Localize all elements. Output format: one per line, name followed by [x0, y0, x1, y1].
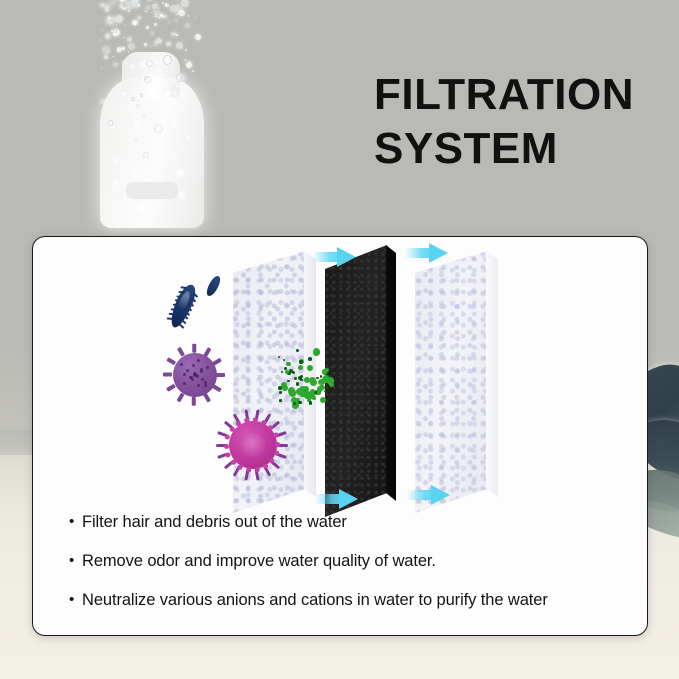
- water-droplet: [153, 10, 155, 12]
- bacteria-cilium: [179, 323, 185, 328]
- bacteria-cilium: [173, 304, 179, 306]
- feature-bullet-text: Neutralize various anions and cations in…: [82, 589, 621, 611]
- water-droplet: [113, 62, 119, 68]
- water-droplet: [123, 37, 124, 38]
- green-microbe-dot: [304, 377, 310, 383]
- bacteria-cilium: [185, 310, 191, 315]
- water-droplet: [144, 43, 147, 46]
- water-droplet: [128, 43, 135, 50]
- virus-spike: [212, 384, 222, 392]
- virus-core: [241, 433, 265, 457]
- feature-bullet-item: •Remove odor and improve water quality o…: [69, 550, 621, 572]
- virus-spike: [223, 421, 234, 431]
- water-droplet: [117, 31, 119, 33]
- water-droplet: [126, 5, 131, 10]
- water-droplet: [174, 19, 178, 23]
- page-title-line-2: SYSTEM: [374, 122, 674, 176]
- flow-arrow-icon-top-left: [313, 247, 357, 267]
- water-droplet: [155, 10, 158, 13]
- arrow-head: [339, 489, 358, 509]
- water-droplet: [128, 10, 129, 11]
- virus-spike: [218, 431, 230, 438]
- virus-spike: [233, 413, 242, 425]
- virus-pore: [194, 373, 197, 376]
- virus-spike: [223, 459, 234, 469]
- virus-spike: [192, 397, 196, 406]
- green-microbe-dot: [287, 380, 289, 382]
- bacteria-cilium: [181, 286, 187, 288]
- water-droplet: [109, 0, 116, 6]
- water-droplet: [156, 38, 162, 44]
- water-droplet: [168, 21, 170, 23]
- water-droplet: [128, 51, 130, 53]
- green-microbe-dot: [310, 379, 317, 386]
- green-microbe-dot: [304, 392, 310, 398]
- bacteria-cilium: [179, 291, 185, 293]
- water-droplet: [104, 4, 110, 10]
- virus-spike: [166, 358, 176, 366]
- feature-bullet-item: •Filter hair and debris out of the water: [69, 511, 621, 533]
- water-droplet: [106, 35, 110, 39]
- water-droplet: [106, 16, 115, 25]
- cotton-filter-back-face: [415, 251, 487, 513]
- virus-spike: [274, 431, 286, 438]
- water-bottle-with-splash: [48, 0, 238, 236]
- water-droplet: [185, 49, 187, 51]
- cotton-filter-back-layer: [415, 251, 487, 513]
- water-droplet: [166, 42, 170, 46]
- water-droplet: [184, 59, 186, 61]
- virus-spike: [177, 393, 185, 403]
- green-microbe-dot: [296, 349, 299, 352]
- virus-spike: [212, 358, 222, 366]
- water-droplet: [116, 24, 118, 26]
- arrow-head: [431, 485, 450, 505]
- virus-spike: [263, 413, 272, 425]
- water-droplet: [154, 23, 157, 26]
- virus-spike: [218, 452, 230, 459]
- virus-spike: [244, 409, 249, 421]
- virus-spike: [276, 444, 288, 447]
- water-droplet: [145, 11, 147, 13]
- bottle-body: [100, 78, 204, 228]
- bacteria-cilium: [171, 308, 177, 310]
- water-droplet: [101, 68, 102, 69]
- water-droplet: [156, 4, 158, 6]
- water-droplet: [170, 5, 178, 13]
- virus-spike: [192, 344, 196, 353]
- water-droplet: [174, 33, 176, 35]
- feature-bullet-item: •Neutralize various anions and cations i…: [69, 589, 621, 611]
- water-droplet: [154, 43, 157, 46]
- virus-spike: [255, 409, 260, 421]
- bacteria-cilium: [175, 299, 181, 301]
- water-droplet: [150, 46, 151, 47]
- bacteria-cilium: [191, 297, 197, 302]
- green-microbe-dot: [313, 349, 320, 356]
- water-droplet: [154, 11, 161, 18]
- water-droplet: [111, 30, 113, 32]
- virus-spike: [166, 384, 176, 392]
- water-droplet: [146, 26, 148, 28]
- water-droplet: [171, 32, 175, 36]
- virus-spike: [269, 421, 280, 431]
- virus-spike: [216, 373, 225, 377]
- flow-arrow-icon-top-right: [405, 243, 449, 263]
- water-droplet: [181, 0, 189, 7]
- water-droplet: [105, 33, 110, 38]
- green-microbe-dot: [278, 386, 282, 390]
- green-microbe-dot: [299, 360, 303, 364]
- virus-spike: [233, 465, 242, 477]
- green-microbe-dot: [325, 368, 329, 372]
- arrow-head: [337, 247, 356, 267]
- water-droplet: [194, 17, 196, 19]
- flow-arrow-icon-bottom-left: [315, 489, 359, 509]
- bottle-label-patch: [126, 182, 178, 199]
- water-droplet: [105, 8, 109, 12]
- water-droplet: [100, 3, 104, 7]
- rod-bacteria-icon-small: [204, 274, 222, 298]
- water-droplet: [186, 62, 192, 68]
- water-droplet: [151, 12, 152, 13]
- virus-spike: [163, 373, 172, 377]
- virus-pore: [200, 370, 203, 373]
- water-droplet: [133, 0, 136, 2]
- water-droplet: [127, 37, 132, 42]
- water-droplet: [107, 50, 109, 52]
- water-droplet: [113, 33, 117, 37]
- green-microbe-dot: [281, 382, 287, 388]
- virus-pore: [183, 373, 186, 376]
- virus-spike: [244, 468, 249, 480]
- product-image-canvas: FILTRATION SYSTEM: [0, 0, 679, 679]
- green-microbe-dot: [296, 382, 300, 386]
- virus-spike: [216, 444, 228, 447]
- water-droplet: [117, 47, 122, 52]
- green-microbe-dot: [283, 359, 285, 361]
- water-droplet: [137, 16, 141, 20]
- feature-bullet-text: Remove odor and improve water quality of…: [82, 550, 621, 572]
- bacteria-cilium: [183, 315, 189, 320]
- green-microbe-dot: [298, 401, 302, 405]
- bacteria-cilium: [177, 295, 183, 297]
- water-droplet: [165, 3, 166, 4]
- water-droplet: [104, 55, 108, 59]
- water-droplet: [120, 6, 124, 10]
- green-microbe-dot: [289, 389, 297, 397]
- virus-spike: [203, 347, 211, 357]
- bullet-glyph: •: [69, 589, 82, 611]
- water-droplet: [125, 0, 130, 5]
- water-droplet: [159, 17, 161, 19]
- water-droplet: [176, 42, 183, 49]
- green-microbe-dot: [298, 376, 302, 380]
- green-microbe-dot: [307, 365, 313, 371]
- virus-pore: [201, 378, 204, 381]
- water-droplet: [122, 47, 125, 50]
- water-droplet: [138, 4, 140, 6]
- feature-card: •Filter hair and debris out of the water…: [32, 236, 648, 636]
- virus-spike: [203, 393, 211, 403]
- bullet-glyph: •: [69, 550, 82, 572]
- water-droplet: [102, 46, 110, 54]
- water-droplet: [160, 14, 163, 17]
- water-droplet: [123, 7, 125, 9]
- corona-virus-icon-magenta: [217, 409, 289, 481]
- bacteria-cilium: [167, 317, 173, 319]
- green-microbe-dot: [308, 357, 312, 361]
- bullet-glyph: •: [69, 511, 82, 533]
- page-title: FILTRATION SYSTEM: [374, 68, 674, 176]
- green-microbe-dot: [278, 356, 280, 358]
- green-microbe-dot: [294, 377, 297, 380]
- water-droplet: [112, 56, 114, 58]
- water-droplet: [102, 29, 103, 30]
- green-microbe-dot: [285, 370, 289, 374]
- water-droplet: [152, 4, 157, 9]
- rod-bacteria-icon-large: [166, 282, 199, 331]
- bacteria-cilium: [189, 301, 195, 306]
- water-droplet: [177, 6, 183, 12]
- green-microbe-dot: [279, 399, 282, 402]
- water-droplet: [117, 49, 120, 52]
- water-droplet: [192, 70, 194, 72]
- water-droplet: [133, 22, 136, 25]
- water-droplet: [122, 0, 124, 1]
- green-microbe-dot: [281, 371, 284, 374]
- water-droplet: [162, 2, 164, 4]
- green-microbe-dot: [314, 391, 317, 394]
- virus-pore: [204, 381, 207, 384]
- water-droplet: [132, 20, 138, 26]
- trapped-green-microbes-cluster: [271, 345, 343, 413]
- water-droplet: [125, 25, 126, 26]
- water-droplet: [177, 4, 179, 6]
- green-microbe-dot: [317, 386, 323, 392]
- virus-spike: [263, 465, 272, 477]
- bacteria-cilium: [193, 293, 199, 298]
- feature-bullet-text: Filter hair and debris out of the water: [82, 511, 621, 533]
- water-droplet: [108, 17, 110, 19]
- water-droplet: [189, 61, 191, 63]
- virus-spike: [255, 468, 260, 480]
- virus-spike: [274, 452, 286, 459]
- water-droplet: [165, 15, 168, 18]
- water-droplet: [120, 0, 124, 2]
- water-droplet: [119, 3, 123, 7]
- water-droplet: [178, 10, 184, 16]
- arrow-head: [429, 243, 448, 263]
- water-droplet: [118, 72, 120, 74]
- bacteria-cilium: [187, 306, 193, 311]
- feature-bullet-list: •Filter hair and debris out of the water…: [69, 511, 621, 611]
- bottle-neck: [122, 52, 180, 98]
- water-droplet: [165, 4, 169, 8]
- water-droplet: [115, 15, 124, 24]
- water-droplet: [113, 28, 118, 33]
- green-microbe-dot: [324, 390, 326, 392]
- water-droplet: [158, 7, 160, 9]
- water-droplet: [162, 15, 165, 18]
- green-microbe-dot: [320, 397, 327, 404]
- green-microbe-dot: [279, 391, 282, 394]
- water-droplet: [151, 31, 155, 35]
- water-droplet: [161, 14, 163, 16]
- water-droplet: [195, 34, 201, 40]
- green-microbe-dot: [310, 389, 315, 394]
- water-droplet: [185, 23, 190, 28]
- virus-pore: [183, 382, 186, 385]
- virus-pore: [197, 359, 200, 362]
- water-droplet: [188, 15, 190, 17]
- bacteria-cilium: [169, 313, 175, 315]
- activated-carbon-edge: [386, 245, 396, 517]
- water-droplet: [99, 39, 101, 41]
- page-title-line-1: FILTRATION: [374, 68, 674, 122]
- water-droplet: [154, 41, 157, 44]
- water-droplet: [155, 15, 157, 17]
- green-microbe-dot: [309, 401, 312, 404]
- water-droplet: [148, 0, 151, 1]
- virus-spike: [269, 459, 280, 469]
- bacteria-cilium: [181, 319, 187, 324]
- flow-arrow-icon-bottom-right: [407, 485, 451, 505]
- water-droplet: [113, 29, 120, 36]
- water-droplet: [175, 13, 178, 16]
- water-droplet: [176, 34, 178, 36]
- green-microbe-dot: [292, 371, 295, 374]
- spiky-virus-icon-purple: [167, 347, 223, 403]
- water-droplet: [147, 5, 150, 8]
- water-droplet: [145, 6, 149, 10]
- water-droplet: [130, 0, 139, 8]
- cotton-filter-back-edge: [486, 251, 498, 513]
- water-droplet: [155, 2, 156, 3]
- virus-spike: [177, 347, 185, 357]
- green-microbe-dot: [286, 362, 290, 366]
- green-microbe-dot: [329, 382, 334, 387]
- green-microbe-dot: [298, 365, 304, 371]
